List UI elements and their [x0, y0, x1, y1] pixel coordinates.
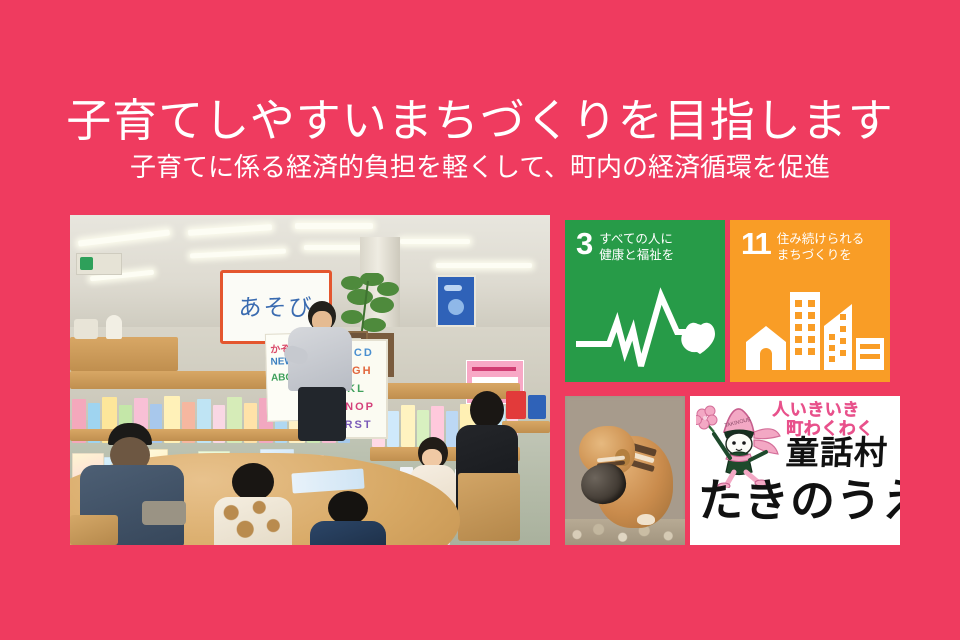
gift-bag [528, 395, 546, 419]
ceiling-light [400, 239, 470, 244]
chair [70, 515, 118, 545]
person-front-child [308, 491, 388, 545]
heartbeat-icon [565, 282, 725, 374]
sdg-11-label-line2: まちづくりを [777, 247, 865, 263]
person-front-child [208, 463, 296, 545]
page-subtitle: 子育てに係る経済的負担を軽くして、町内の経済循環を促進 [0, 151, 960, 183]
exit-sign [76, 253, 122, 275]
sdg-11-label-line1: 住み続けられる [777, 231, 865, 247]
library-scene: あそび [70, 215, 550, 545]
sdg-11-heading: 11 住み続けられる まちづくりを [730, 220, 890, 263]
page-title: 子育てしやすいまちづくりを目指します [0, 96, 960, 146]
slide-canvas: 子育てしやすいまちづくりを目指します 子育てに係る経済的負担を軽くして、町内の経… [0, 0, 960, 640]
sdg-3-label-line2: 健康と福祉を [599, 247, 674, 263]
sdg-3-label: すべての人に 健康と福祉を [599, 231, 674, 263]
headline-block: 子育てしやすいまちづくりを目指します 子育てに係る経済的負担を軽くして、町内の経… [0, 96, 960, 183]
person-standing [284, 301, 362, 441]
logo-name-upper: 童話村 [785, 436, 889, 469]
chipmunk-paw [637, 514, 655, 525]
wall-poster [436, 275, 476, 327]
decor-object [74, 319, 98, 339]
sdg-11-label: 住み続けられる まちづくりを [777, 231, 865, 263]
sdg-3-heading: 3 すべての人に 健康と福祉を [565, 220, 725, 263]
logo-catchphrase-line1: 人いきいき [772, 400, 896, 419]
ceiling-light [436, 263, 532, 268]
ceiling-light [295, 223, 373, 229]
display-cabinet [70, 337, 178, 371]
sdg-badge-3: 3 すべての人に 健康と福祉を [565, 220, 725, 382]
sdg-badge-11: 11 住み続けられる まちづくりを [730, 220, 890, 382]
town-logo: TAKINOUE [690, 396, 900, 545]
library-photo: あそび [70, 215, 550, 545]
chipmunk-photo [565, 396, 685, 545]
sdg-3-label-line1: すべての人に [599, 231, 674, 247]
logo-name-lower: たきのうえ [698, 478, 900, 523]
sdg-3-number: 3 [576, 231, 592, 256]
town-logo-inner: TAKINOUE [690, 396, 900, 545]
sdg-11-number: 11 [741, 231, 770, 256]
city-buildings-icon [730, 282, 890, 374]
chair [458, 473, 520, 541]
decor-object [106, 315, 122, 339]
